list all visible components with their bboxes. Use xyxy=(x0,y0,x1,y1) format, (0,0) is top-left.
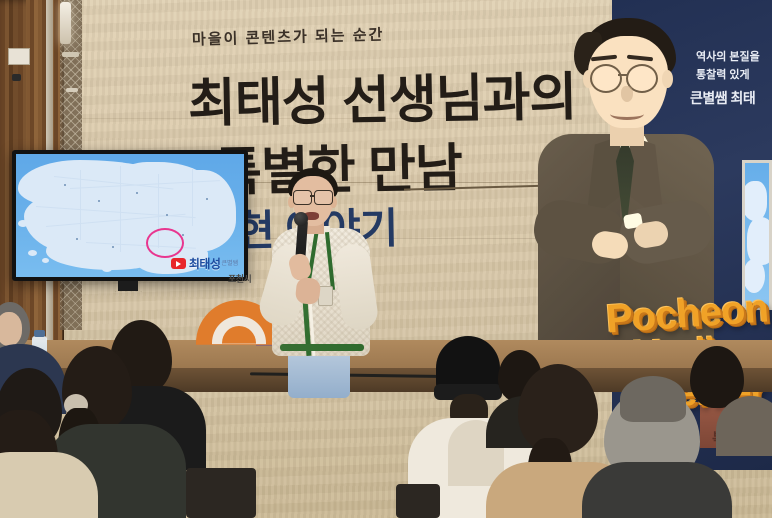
youtube-channel-name: 최태성 xyxy=(189,255,221,272)
door-handle[interactable] xyxy=(62,52,79,57)
arch-logo-inner xyxy=(222,326,256,360)
wall-light-fixture xyxy=(60,2,71,44)
tv-caption: · · · · · · xyxy=(94,289,164,295)
presenter-glasses-bridge xyxy=(310,195,315,197)
printed-portrait xyxy=(528,8,718,338)
wall-control-box xyxy=(8,48,30,65)
map-highlight-circle xyxy=(146,228,184,258)
chair-back xyxy=(396,484,440,518)
wall-camera-icon xyxy=(12,74,21,81)
water-bottle-cap xyxy=(34,330,45,337)
portrait-glasses-left-lens xyxy=(590,64,622,93)
portrait-nose xyxy=(621,86,633,102)
youtube-watermark: 최태성 큰별쌤 xyxy=(171,255,238,272)
youtube-play-icon xyxy=(171,258,186,269)
photo-scene: 역사의 본질을 통찰력 있게 큰별쌤 최태 <20 마을이 콘텐츠가 되는 순간… xyxy=(0,0,772,518)
presenter-glasses-left-lens xyxy=(293,190,312,205)
city-name-label: 포천시 xyxy=(228,272,251,285)
portrait-ear-right xyxy=(662,70,673,88)
left-tv: 최태성 큰별쌤 xyxy=(12,150,248,281)
banner-title-line1: 최태성 선생님과의 xyxy=(187,55,576,137)
youtube-channel-sub: 큰별쌤 xyxy=(221,261,238,267)
presenter-glasses-right-lens xyxy=(314,190,333,205)
presenter-jeans xyxy=(288,350,350,398)
portrait-glasses-bridge xyxy=(618,74,628,76)
microphone-head-icon xyxy=(294,212,308,226)
presenter xyxy=(266,168,376,388)
presenter-hem-stripe xyxy=(280,344,364,351)
portrait-smile xyxy=(610,108,644,120)
left-tv-screen: 최태성 큰별쌤 xyxy=(16,154,244,277)
door-handle-lower[interactable] xyxy=(66,88,78,92)
chair-back xyxy=(186,468,256,518)
